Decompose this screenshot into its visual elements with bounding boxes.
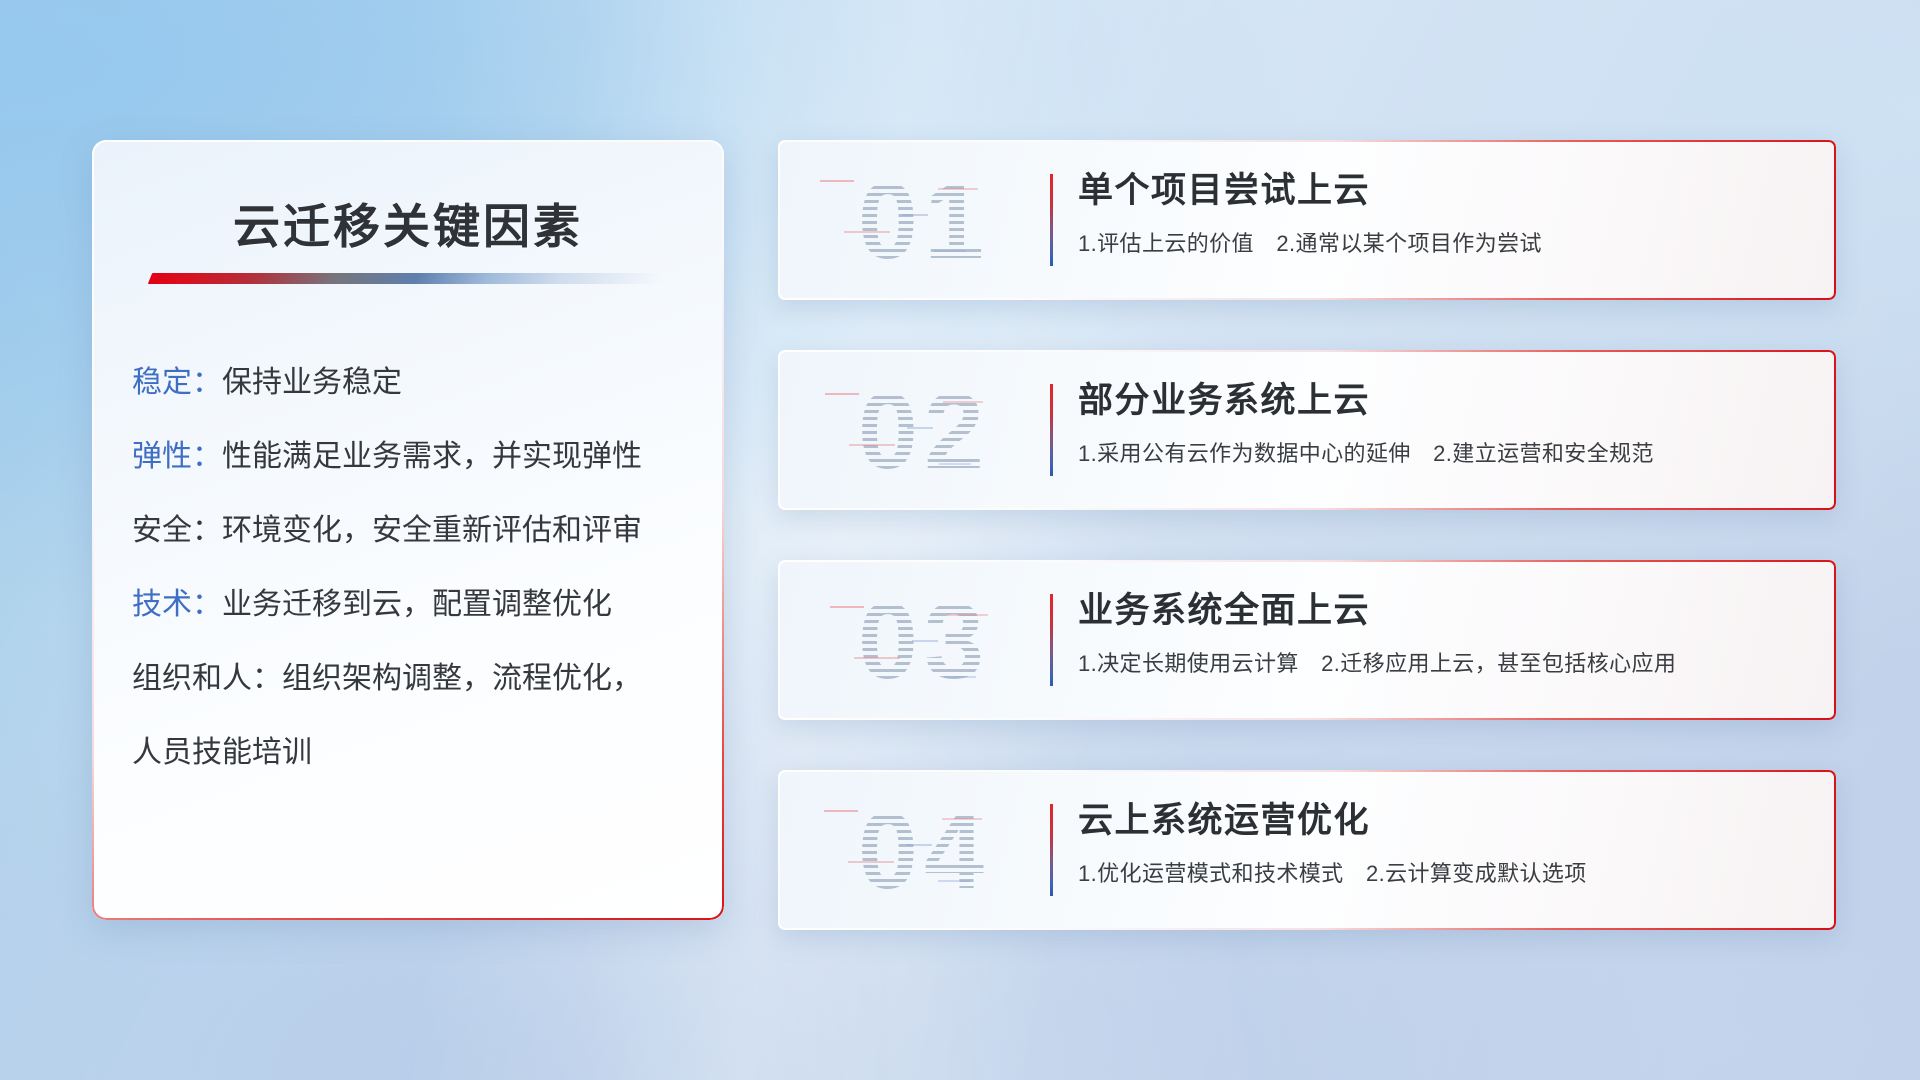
card-subtitle: 1.优化运营模式和技术模式 2.云计算变成默认选项 [1078,856,1806,888]
watermark-accent-line [906,844,932,846]
list-item: 技术：业务迁移到云，配置调整优化 [132,590,696,620]
factor-value: 人员技能培训 [132,736,312,769]
watermark-accent-line [825,393,859,395]
watermark-accent-line [902,214,928,216]
factor-key: 安全： [132,514,222,547]
card-subtitle: 1.评估上云的价值 2.通常以某个项目作为尝试 [1078,226,1806,258]
card-body: 业务系统全面上云 1.决定长期使用云计算 2.迁移应用上云，甚至包括核心应用 [1078,590,1806,678]
factors-list: 稳定：保持业务稳定 弹性：性能满足业务需求，并实现弹性 安全：环境变化，安全重新… [132,368,696,768]
watermark-accent-line [830,606,864,608]
stage-number-watermark: 03 [806,578,1042,702]
card-body: 单个项目尝试上云 1.评估上云的价值 2.通常以某个项目作为尝试 [1078,170,1806,258]
card-accent-divider [1050,804,1053,896]
watermark-accent-line [942,818,982,820]
watermark-accent-line [948,614,988,616]
key-factors-panel: 云迁移关键因素 稳定：保持业务稳定 弹性：性能满足业务需求，并实现弹性 安全：环… [92,140,724,920]
card-title: 云上系统运营优化 [1078,800,1806,843]
stage-card[interactable]: 02 部分业务系统上云 1.采用公有云作为数据中心的延伸 2.建立运营和安全规范 [778,350,1836,510]
card-body: 云上系统运营优化 1.优化运营模式和技术模式 2.云计算变成默认选项 [1078,800,1806,888]
title-underline-gradient [148,273,664,284]
watermark-accent-line [939,463,971,465]
stage-card[interactable]: 03 业务系统全面上云 1.决定长期使用云计算 2.迁移应用上云，甚至包括核心应… [778,560,1836,720]
factor-key: 组织和人： [132,662,282,695]
factor-value: 业务迁移到云，配置调整优化 [222,588,612,621]
watermark-accent-line [844,231,890,233]
card-subtitle: 1.决定长期使用云计算 2.迁移应用上云，甚至包括核心应用 [1078,646,1806,678]
watermark-accent-line [944,676,976,678]
watermark-accent-line [912,640,938,642]
watermark-accent-line [848,861,894,863]
factor-value: 组织架构调整，流程优化， [282,662,642,695]
watermark-accent-line [854,657,900,659]
factor-value: 环境变化，安全重新评估和评审 [222,514,642,547]
factor-value: 保持业务稳定 [222,366,402,399]
card-title: 单个项目尝试上云 [1078,170,1806,213]
stage-number-watermark: 02 [806,368,1042,492]
watermark-accent-line [938,880,970,882]
watermark-accent-line [943,401,983,403]
watermark-accent-line [907,427,933,429]
card-accent-divider [1050,594,1053,686]
list-item: 稳定：保持业务稳定 [132,368,696,398]
list-item: 安全：环境变化，安全重新评估和评审 [132,516,696,546]
list-item: 人员技能培训 [132,738,696,768]
stage-card[interactable]: 01 单个项目尝试上云 1.评估上云的价值 2.通常以某个项目作为尝试 [778,140,1836,300]
watermark-accent-line [938,188,978,190]
factor-key: 稳定： [132,366,222,399]
list-item: 弹性：性能满足业务需求，并实现弹性 [132,442,696,472]
watermark-accent-line [824,810,858,812]
factor-key: 弹性： [132,440,222,473]
stage-number-watermark: 04 [806,788,1042,912]
card-subtitle: 1.采用公有云作为数据中心的延伸 2.建立运营和安全规范 [1078,436,1806,468]
stage-number-watermark: 01 [806,158,1042,282]
card-accent-divider [1050,174,1053,266]
watermark-accent-line [849,444,895,446]
card-accent-divider [1050,384,1053,476]
migration-stage-cards: 01 单个项目尝试上云 1.评估上云的价值 2.通常以某个项目作为尝试 02 部… [778,140,1836,930]
card-title: 部分业务系统上云 [1078,380,1806,423]
factor-key: 技术： [132,588,222,621]
page-title: 云迁移关键因素 [92,188,724,257]
card-title: 业务系统全面上云 [1078,590,1806,633]
card-body: 部分业务系统上云 1.采用公有云作为数据中心的延伸 2.建立运营和安全规范 [1078,380,1806,468]
slide-canvas: 云迁移关键因素 稳定：保持业务稳定 弹性：性能满足业务需求，并实现弹性 安全：环… [0,0,1920,1080]
watermark-accent-line [934,250,966,252]
factor-value: 性能满足业务需求，并实现弹性 [222,440,642,473]
list-item: 组织和人：组织架构调整，流程优化， [132,664,696,694]
stage-card[interactable]: 04 云上系统运营优化 1.优化运营模式和技术模式 2.云计算变成默认选项 [778,770,1836,930]
watermark-accent-line [820,180,854,182]
